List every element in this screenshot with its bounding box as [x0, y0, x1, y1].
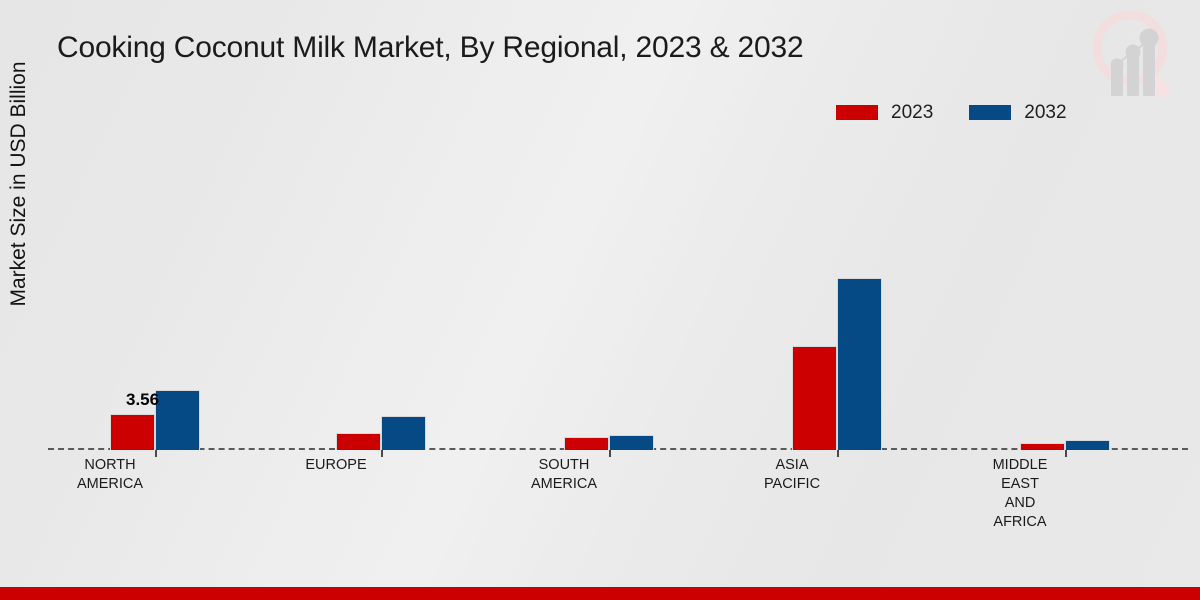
bar-2023-north-america[interactable]: [110, 414, 155, 450]
category-label-asia-pacific: ASIA PACIFIC: [747, 456, 837, 494]
axis-tick-europe: [381, 450, 383, 457]
chart-title: Cooking Coconut Milk Market, By Regional…: [57, 31, 803, 65]
axis-tick-middle-east-and-africa: [1065, 450, 1067, 457]
footer-accent-bar: [0, 587, 1200, 600]
axis-tick-asia-pacific: [837, 450, 839, 457]
bar-value-2023-north-america: 3.56: [126, 390, 159, 410]
market-research-logo-watermark: [1074, 4, 1186, 106]
axis-tick-north-america: [155, 450, 157, 457]
legend-swatch-2032: [969, 105, 1011, 120]
bar-2032-europe[interactable]: [381, 416, 426, 450]
category-label-south-america: SOUTH AMERICA: [519, 456, 609, 494]
legend-swatch-2023: [836, 105, 878, 120]
chart-canvas: Cooking Coconut Milk Market, By Regional…: [0, 0, 1200, 600]
legend-label-2032: 2032: [1024, 103, 1066, 122]
category-label-middle-east-and-africa: MIDDLE EAST AND AFRICA: [975, 456, 1065, 532]
axis-tick-south-america: [609, 450, 611, 457]
category-label-north-america: NORTH AMERICA: [65, 456, 155, 494]
bar-2023-middle-east-and-africa[interactable]: [1020, 443, 1065, 450]
y-axis-title: Market Size in USD Billion: [7, 19, 31, 349]
bar-2023-asia-pacific[interactable]: [792, 346, 837, 450]
category-label-europe: EUROPE: [291, 456, 381, 475]
bar-2023-south-america[interactable]: [564, 437, 609, 450]
bar-2032-north-america[interactable]: [155, 390, 200, 450]
bar-2032-middle-east-and-africa[interactable]: [1065, 440, 1110, 450]
legend-label-2023: 2023: [891, 103, 933, 122]
bar-2032-south-america[interactable]: [609, 435, 654, 450]
bar-2023-europe[interactable]: [336, 433, 381, 450]
legend-item-2023[interactable]: 2023: [836, 103, 933, 122]
chart-legend: 2023 2032: [836, 103, 1067, 122]
legend-item-2032[interactable]: 2032: [969, 103, 1066, 122]
plot-area: 3.56: [48, 130, 1188, 450]
bar-2032-asia-pacific[interactable]: [837, 278, 882, 450]
